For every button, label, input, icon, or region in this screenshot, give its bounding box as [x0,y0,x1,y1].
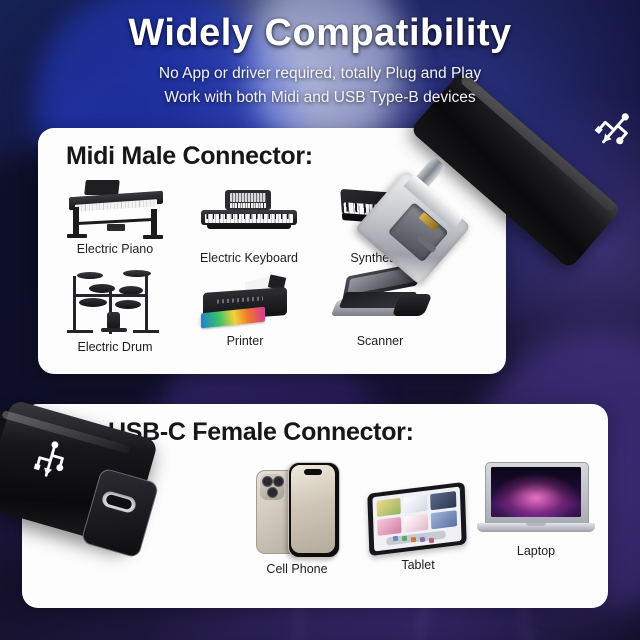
header-subtitle-line-2: Work with both Midi and USB Type-B devic… [0,86,640,110]
header-subtitle-line-1: No App or driver required, totally Plug … [0,62,640,86]
printer-icon [195,276,295,330]
page-title: Widely Compatibility [0,14,640,54]
device-label: Electric Keyboard [176,251,322,265]
device-item-tablet: Tablet [362,484,474,572]
device-item-printer: Printer [180,276,310,348]
device-item-laptop: Laptop [472,462,600,558]
device-label: Electric Piano [50,242,180,256]
electric-keyboard-icon [199,190,299,238]
device-label: Electric Drum [48,340,182,354]
promo-image: Widely Compatibility No App or driver re… [0,0,640,640]
electric-piano-icon [63,180,167,240]
device-label: Tablet [362,558,474,572]
device-item-cell-phone: Cell Phone [232,462,362,576]
device-label: Printer [180,334,310,348]
device-label: Scanner [310,334,450,348]
header-block: Widely Compatibility No App or driver re… [0,14,640,110]
electric-drum-icon [65,268,165,338]
cell-phone-icon [254,462,340,558]
header-subtitle: No App or driver required, totally Plug … [0,62,640,110]
device-item-electric-drum: Electric Drum [48,268,182,354]
usb-c-female-connector [0,398,184,588]
midi-panel-heading: Midi Male Connector: [66,142,313,171]
device-item-electric-keyboard: Electric Keyboard [176,190,322,265]
tablet-icon [366,484,470,556]
device-item-electric-piano: Electric Piano [50,180,180,256]
device-label: Laptop [472,544,600,558]
laptop-icon [477,462,595,542]
device-label: Cell Phone [232,562,362,576]
